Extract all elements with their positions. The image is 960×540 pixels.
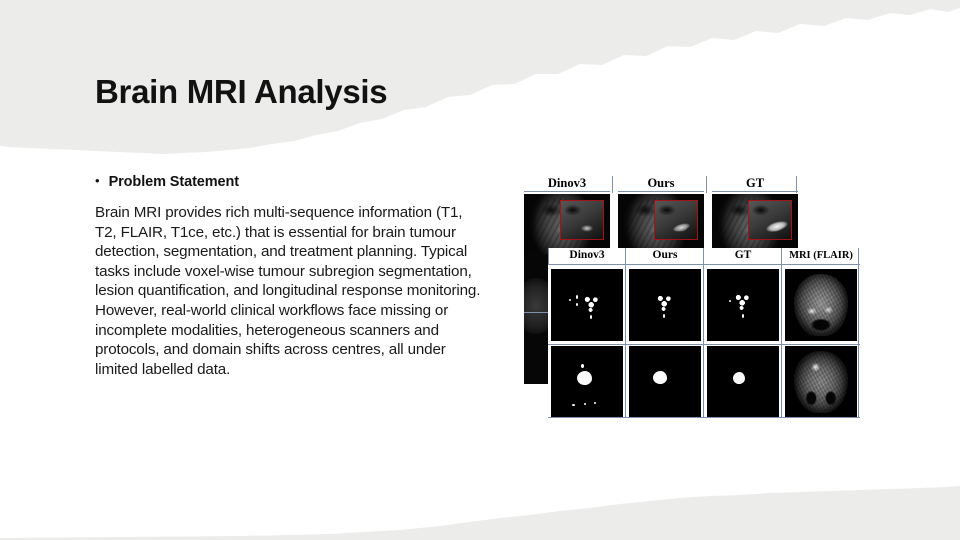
bullet-heading-row: • Problem Statement (95, 174, 485, 190)
figure-bottom-label-dinov3: Dinov3 (548, 248, 626, 264)
flair-texture (794, 351, 848, 413)
figure-bottom-label-mri-flair: MRI (FLAIR) (782, 248, 860, 264)
figure-top-image-gt (712, 194, 798, 254)
flair-texture (794, 274, 848, 336)
figure-top-label-gt: GT (712, 176, 798, 192)
mri-cell-row2-flair (785, 346, 857, 418)
figure-bottom-segmentation-grid: Dinov3 Ours GT MRI (FLAIR) (548, 248, 860, 418)
body-paragraph: Brain MRI provides rich multi-sequence i… (95, 203, 485, 379)
tumour-mask-blob (584, 297, 599, 312)
flair-brain-slice (794, 274, 848, 336)
figure-top-divider-1 (612, 176, 613, 193)
figure-top-column-dinov3: Dinov3 (524, 176, 610, 254)
mask-speck (663, 314, 665, 318)
figure-bottom-bottom-border (548, 417, 860, 418)
figure-bottom-label-gt: GT (704, 248, 782, 264)
bullet-heading-label: Problem Statement (109, 174, 239, 190)
mri-cell-row1-flair (785, 269, 857, 341)
mask-speck (584, 403, 586, 405)
figure-bottom-label-ours: Ours (626, 248, 704, 264)
mask-speck (594, 402, 596, 404)
figure-composite: Dinov3 Ours GT (524, 176, 860, 418)
figure-top-image-dinov3 (524, 194, 610, 254)
mask-cell-row1-dinov3 (551, 269, 623, 341)
red-inset-box (560, 200, 604, 240)
mask-cell-row1-ours (629, 269, 701, 341)
mask-cell-row2-gt (707, 346, 779, 418)
figure-bottom-divider-1 (625, 248, 626, 418)
mask-speck (581, 364, 584, 368)
mask-speck (729, 300, 731, 302)
figure-top-label-dinov3: Dinov3 (524, 176, 610, 192)
red-inset-box (748, 200, 792, 240)
mask-speck (576, 303, 578, 306)
flair-brain-slice (794, 351, 848, 413)
bullet-marker-icon: • (95, 174, 100, 187)
mask-cell-row2-ours (629, 346, 701, 418)
red-inset-box (654, 200, 698, 240)
figure-bottom-divider-2 (703, 248, 704, 418)
mask-speck (742, 314, 744, 318)
page-title: Brain MRI Analysis (95, 73, 387, 111)
torn-paper-bottom-decoration (0, 470, 960, 540)
figure-top-divider-3 (796, 176, 797, 193)
tumour-mask-blob (735, 295, 750, 310)
text-column: • Problem Statement Brain MRI provides r… (95, 174, 485, 379)
figure-top-image-ours (618, 194, 704, 254)
mask-cell-row1-gt (707, 269, 779, 341)
mask-speck (576, 295, 578, 299)
mask-speck (569, 299, 571, 301)
figure-top-column-ours: Ours (618, 176, 704, 254)
figure-bottom-divider-3 (781, 248, 782, 418)
mask-speck (572, 404, 575, 406)
figure-top-label-ours: Ours (618, 176, 704, 192)
figure-bottom-divider-0 (548, 248, 549, 264)
figure-top-column-gt: GT (712, 176, 798, 254)
slide-canvas: Brain MRI Analysis • Problem Statement B… (0, 0, 960, 540)
figure-top-qualitative-row: Dinov3 Ours GT (524, 176, 798, 254)
tumour-mask-blob (577, 371, 592, 385)
figure-bottom-divider-4 (858, 248, 859, 418)
tumour-mask-blob (653, 371, 667, 384)
tumour-mask-blob (733, 372, 745, 384)
mask-cell-row2-dinov3 (551, 346, 623, 418)
figure-top-divider-2 (706, 176, 707, 193)
mask-speck (590, 315, 592, 319)
tumour-mask-blob (657, 296, 672, 311)
